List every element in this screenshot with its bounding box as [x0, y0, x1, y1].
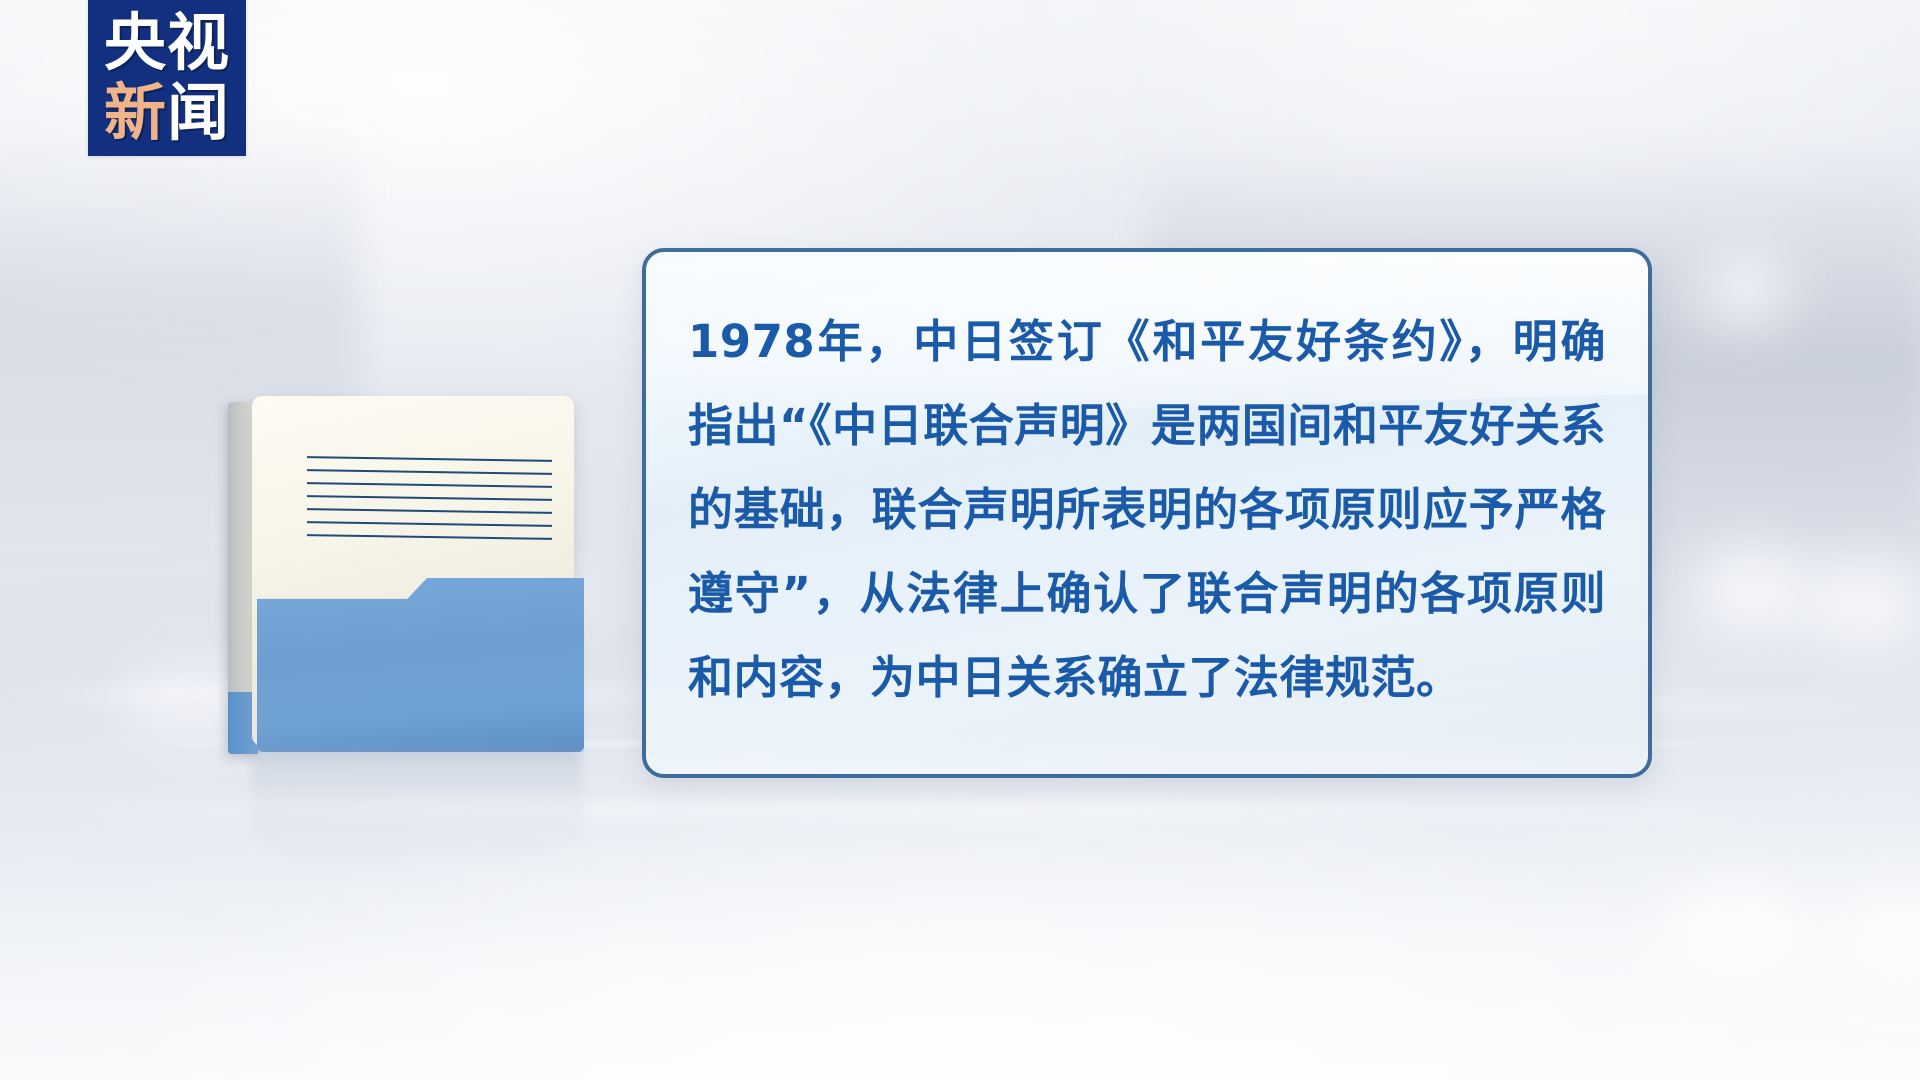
paper-line	[307, 469, 552, 475]
cctv-news-logo: 央视 新闻	[88, 0, 246, 156]
quote-body-text: 1978年，中日签订《和平友好条约》，明确指出“《中日联合声明》是两国间和平友好…	[646, 252, 1648, 720]
news-graphic-stage: 央视 新闻 1978年，中日签订《和平友好条约》，明确指出“《中日联合声明》是两…	[0, 0, 1920, 1080]
background-bokeh-3	[1800, 555, 1920, 650]
background-bokeh-4	[1660, 880, 1810, 980]
paper-text-lines	[307, 458, 552, 534]
paper-line	[307, 534, 552, 540]
folder-front-cover	[257, 578, 584, 752]
paper-line	[307, 495, 552, 501]
quote-card: 1978年，中日签订《和平友好条约》，明确指出“《中日联合声明》是两国间和平友好…	[642, 248, 1652, 778]
background-bokeh-2	[1692, 545, 1812, 635]
paper-line	[307, 482, 552, 488]
folder-reflection	[252, 750, 582, 870]
logo-text-xinwen: 新闻	[104, 79, 230, 147]
logo-char-xin: 新	[104, 76, 167, 149]
background-bokeh-1	[1700, 250, 1790, 330]
paper-line	[307, 508, 552, 514]
paper-line	[307, 456, 552, 462]
logo-char-wen: 闻	[167, 76, 230, 149]
logo-text-yangshi: 央视	[104, 9, 230, 77]
paper-line	[307, 521, 552, 527]
document-folder-icon	[222, 392, 622, 792]
